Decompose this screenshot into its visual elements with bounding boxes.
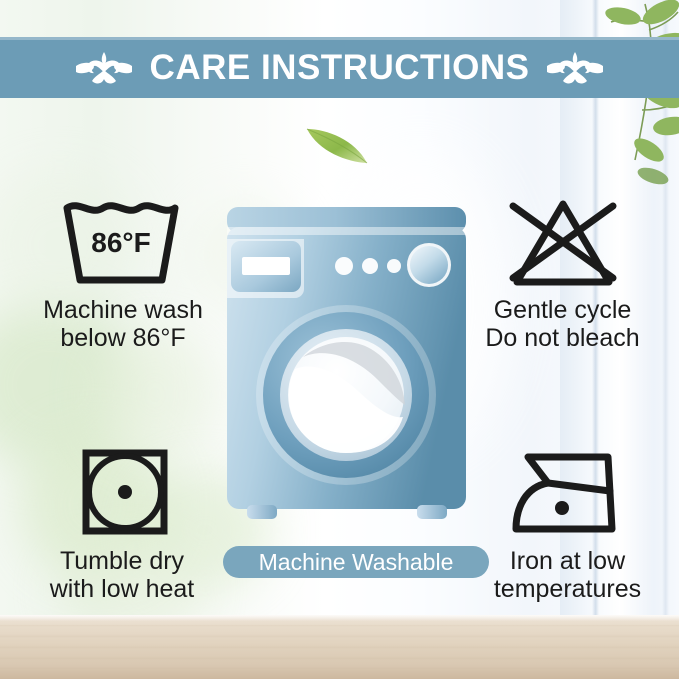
care-item-label-line1: Gentle cycle [494, 296, 632, 324]
care-item-iron-low: Iron at low temperatures [460, 447, 675, 603]
badge-label: Machine Washable [259, 551, 454, 574]
care-item-label-line2: below 86°F [60, 324, 185, 352]
care-item-label: Tumble dry with low heat [50, 547, 195, 603]
iron-low-heat-icon [504, 447, 632, 543]
washer-button [335, 257, 353, 275]
fleur-de-lis-icon [547, 48, 603, 88]
care-item-label-line1: Iron at low [510, 547, 625, 575]
do-not-bleach-triangle-icon [499, 196, 627, 292]
header-banner: CARE INSTRUCTIONS [0, 37, 679, 98]
care-item-label: Iron at low temperatures [494, 547, 641, 603]
care-item-label-line2: Do not bleach [485, 324, 639, 352]
care-item-label-line1: Tumble dry [60, 547, 184, 575]
care-item-label-line1: Machine wash [43, 296, 203, 324]
care-item-label-line2: with low heat [50, 575, 195, 603]
washer-button [387, 259, 401, 273]
care-item-label: Gentle cycle Do not bleach [485, 296, 639, 352]
washing-machine-illustration [219, 205, 474, 535]
wood-grain [0, 625, 679, 669]
page-title: CARE INSTRUCTIONS [150, 50, 530, 85]
fleur-de-lis-icon [76, 48, 132, 88]
drawer-slot [242, 257, 290, 275]
control-dial [410, 246, 448, 284]
care-item-machine-wash: 86°F Machine wash below 86°F [18, 196, 228, 352]
wash-tub-icon: 86°F [59, 196, 187, 292]
care-item-do-not-bleach: Gentle cycle Do not bleach [455, 196, 670, 352]
washer-foot [247, 505, 277, 519]
washer-foot [417, 505, 447, 519]
washer-button [362, 258, 378, 274]
tumble-dry-low-icon [70, 447, 174, 543]
care-item-label-line2: temperatures [494, 575, 641, 603]
wooden-shelf [0, 615, 679, 679]
machine-washable-badge: Machine Washable [223, 546, 489, 578]
wash-temperature-value: 86°F [91, 227, 150, 258]
care-item-tumble-dry: Tumble dry with low heat [22, 447, 222, 603]
floating-green-leaf-icon [303, 120, 373, 168]
care-item-label: Machine wash below 86°F [43, 296, 203, 352]
care-instructions-graphic: CARE INSTRUCTIONS 86°F Machine wash belo… [0, 0, 679, 679]
